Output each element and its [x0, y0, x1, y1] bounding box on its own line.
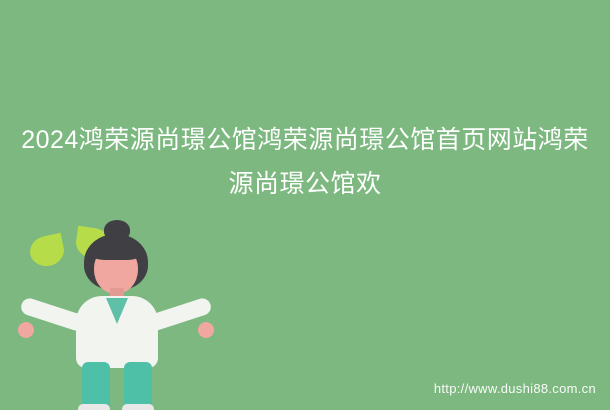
leg-left — [82, 362, 110, 410]
leaf-left-icon — [27, 233, 66, 269]
person-with-leaves-illustration — [18, 210, 228, 410]
image-canvas: 2024鸿荣源尚璟公馆鸿荣源尚璟公馆首页网站鸿荣源尚璟公馆欢 http://ww… — [0, 0, 610, 410]
shoe-right — [122, 404, 154, 410]
watermark-url: http://www.dushi88.com.cn — [434, 381, 596, 396]
hair-fringe — [90, 238, 142, 260]
hand-right — [198, 322, 214, 338]
leg-right — [124, 362, 152, 410]
shoe-left — [78, 404, 110, 410]
hand-left — [18, 322, 34, 338]
headline-text: 2024鸿荣源尚璟公馆鸿荣源尚璟公馆首页网站鸿荣源尚璟公馆欢 — [0, 118, 610, 206]
